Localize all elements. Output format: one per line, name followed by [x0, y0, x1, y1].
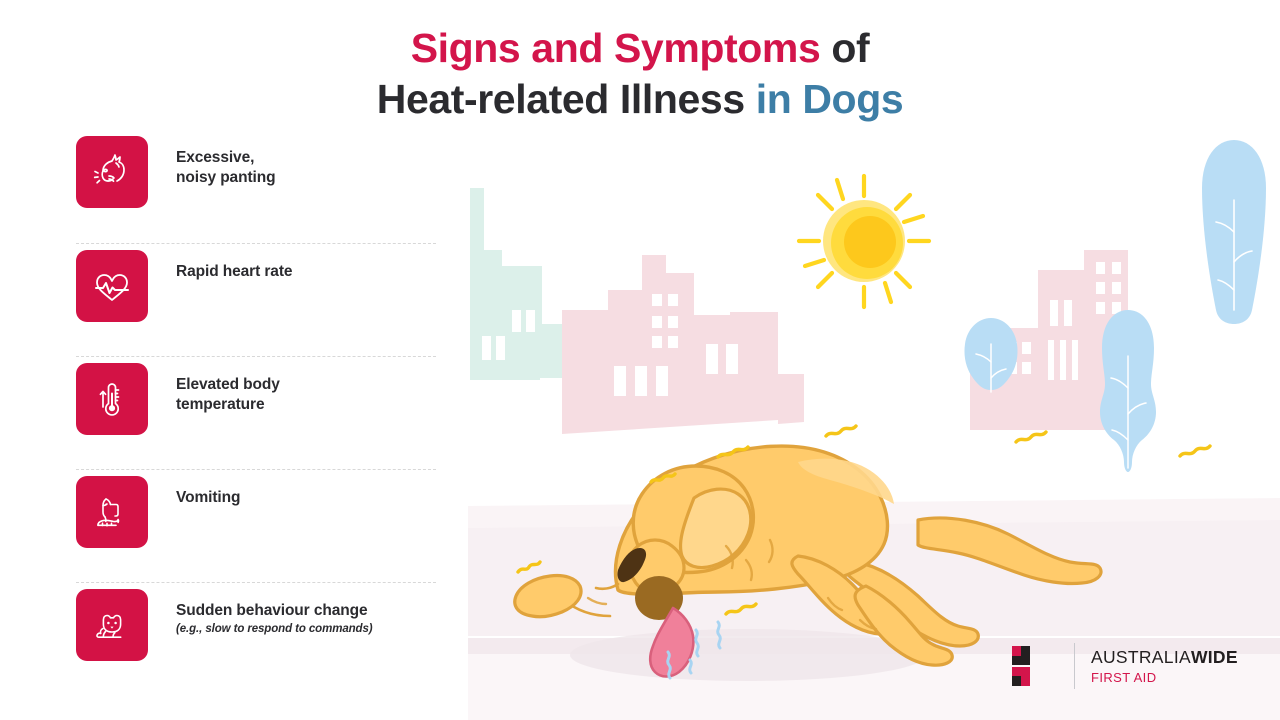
australia-wide-first-aid-logo: AUSTRALIAWIDE FIRST AID	[1008, 640, 1238, 692]
symptom-icon-badge	[76, 589, 148, 661]
dog-shadow	[570, 629, 926, 681]
symptom-label: Rapid heart rate	[176, 262, 292, 282]
list-item: Excessive, noisy panting	[76, 130, 436, 243]
symptom-icon-badge	[76, 476, 148, 548]
symptom-text: Sudden behaviour change (e.g., slow to r…	[148, 583, 373, 635]
list-item: Elevated body temperature	[76, 356, 436, 469]
list-item: Sudden behaviour change (e.g., slow to r…	[76, 582, 436, 695]
symptom-sublabel: (e.g., slow to respond to commands)	[176, 623, 373, 635]
panting-dog-icon	[89, 149, 135, 195]
symptom-label: Vomiting	[176, 488, 240, 508]
logo-australia-text: AUSTRALIA	[1091, 647, 1191, 667]
logo-wordmark: AUSTRALIAWIDE FIRST AID	[1091, 648, 1238, 684]
symptom-label: Excessive, noisy panting	[176, 148, 275, 188]
logo-line-1: AUSTRALIAWIDE	[1091, 647, 1238, 667]
symptom-text: Excessive, noisy panting	[148, 130, 275, 188]
infographic-page: Signs and Symptoms of Heat-related Illne…	[0, 0, 1280, 720]
vomiting-dog-icon	[89, 489, 135, 535]
sun-icon	[799, 176, 929, 307]
australia-wide-cross-mark	[1008, 640, 1060, 692]
city-skyline-pink	[562, 255, 804, 434]
sitting-dog-icon	[89, 602, 135, 648]
list-item: Rapid heart rate	[76, 243, 436, 356]
symptom-label: Sudden behaviour change	[176, 601, 373, 621]
symptom-icon-badge	[76, 250, 148, 322]
logo-wide-text: WIDE	[1191, 647, 1238, 667]
list-item: Vomiting	[76, 469, 436, 582]
symptom-label: Elevated body temperature	[176, 375, 280, 415]
symptom-text: Vomiting	[148, 470, 240, 508]
heart-rate-icon	[89, 263, 135, 309]
symptom-text: Rapid heart rate	[148, 244, 292, 282]
logo-divider	[1074, 643, 1075, 689]
symptom-icon-badge	[76, 136, 148, 208]
symptom-text: Elevated body temperature	[148, 357, 280, 415]
symptom-list: Excessive, noisy panting Rapid heart rat…	[76, 130, 436, 695]
thermometer-icon	[89, 376, 135, 422]
illustration-scene	[468, 0, 1280, 720]
logo-line-2: FIRST AID	[1091, 671, 1238, 685]
symptom-icon-badge	[76, 363, 148, 435]
